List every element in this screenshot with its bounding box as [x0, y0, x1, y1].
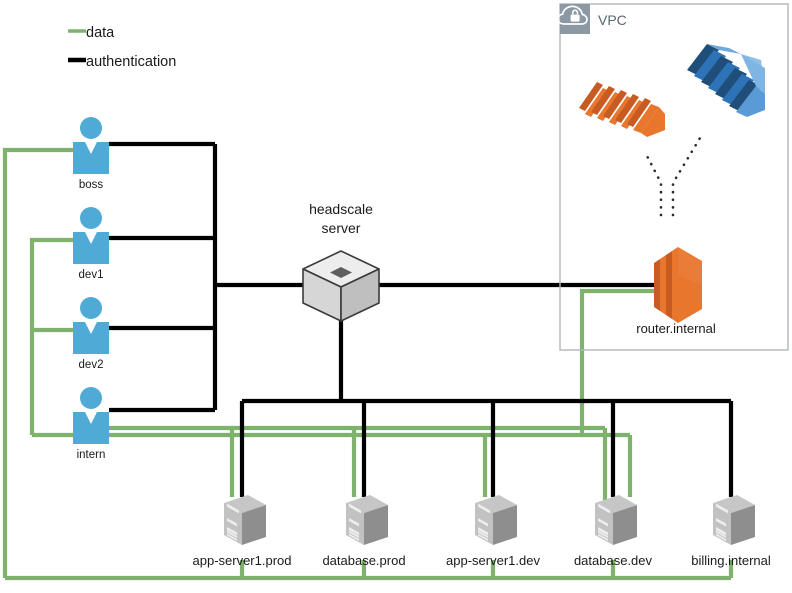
user-boss-label: boss — [79, 179, 104, 191]
aws-blue-stack-icon — [687, 44, 765, 117]
data-link-boss — [5, 150, 73, 578]
server-icon — [475, 495, 517, 545]
aws-orange-stack-icon — [579, 82, 665, 137]
dotted-link-router-to-orange — [645, 152, 661, 215]
headscale-label-line1: headscale — [309, 201, 373, 217]
server-label-app-server1-prod: app-server1.prod — [193, 553, 292, 568]
headscale-server-node[interactable] — [303, 251, 379, 321]
vpc-dotted-links — [645, 133, 703, 215]
network-diagram: VPC router.internal boss dev1 dev2 inter… — [0, 0, 792, 593]
server-label-app-server1-dev: app-server1.dev — [446, 553, 540, 568]
server-node-app-server1-prod[interactable] — [224, 495, 266, 545]
server-icon — [713, 495, 755, 545]
legend-label-data: data — [86, 25, 115, 41]
user-intern-label: intern — [77, 449, 106, 461]
server-node-app-server1-dev[interactable] — [475, 495, 517, 545]
server-label-database-prod: database.prod — [322, 553, 405, 568]
server-node-database-dev[interactable] — [595, 495, 637, 545]
server-label-database-dev: database.dev — [574, 553, 653, 568]
user-dev2-label: dev2 — [79, 359, 104, 371]
legend-label-authentication: authentication — [86, 54, 176, 70]
server-icon — [224, 495, 266, 545]
data-link-router-internal — [582, 291, 654, 435]
server-icon — [346, 495, 388, 545]
data-link-dev1 — [32, 240, 73, 435]
user-intern-node[interactable] — [73, 387, 109, 444]
vpc-label: VPC — [598, 12, 627, 28]
server-node-billing-internal[interactable] — [713, 495, 755, 545]
user-dev2-node[interactable] — [73, 297, 109, 354]
user-boss-node[interactable] — [73, 117, 109, 174]
legend: data authentication — [68, 25, 176, 70]
server-icon — [595, 495, 637, 545]
3d-cube-icon — [303, 251, 379, 321]
server-label-billing-internal: billing.internal — [691, 553, 771, 568]
user-dev1-node[interactable] — [73, 207, 109, 264]
dotted-link-router-to-blue — [673, 133, 703, 215]
user-dev1-label: dev1 — [79, 269, 104, 281]
diagram-canvas: VPC router.internal boss dev1 dev2 inter… — [0, 0, 792, 593]
aws-ec2-instance-icon — [654, 247, 702, 323]
headscale-label-line2: server — [322, 220, 361, 236]
router-internal-label: router.internal — [636, 321, 716, 336]
server-node-database-prod[interactable] — [346, 495, 388, 545]
router-internal-node[interactable] — [654, 247, 702, 323]
